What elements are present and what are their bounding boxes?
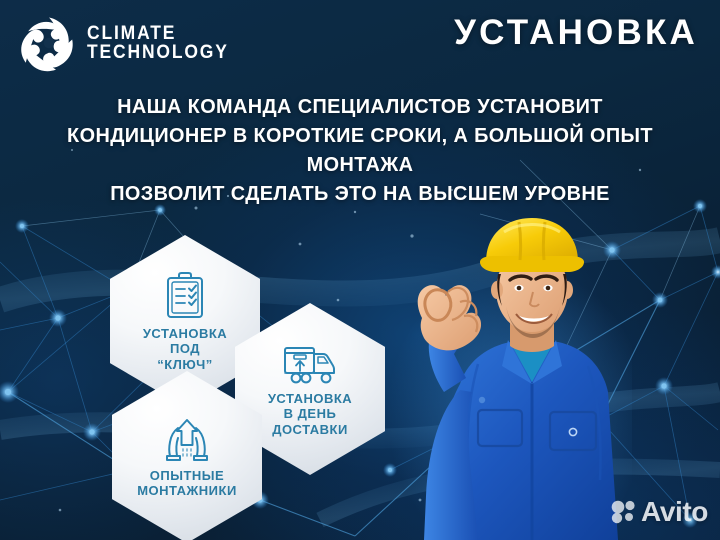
avito-watermark: Avito: [610, 496, 708, 528]
worker-photo: [382, 214, 632, 540]
brand-name-line2: TECHNOLOGY: [87, 43, 229, 62]
headline-line-1: НАША КОМАНДА СПЕЦИАЛИСТОВ УСТАНОВИТ: [11, 92, 709, 121]
clipboard-checklist-icon: [159, 270, 211, 322]
poster-canvas: CLIMATE TECHNOLOGY УСТАНОВКА НАША КОМАНД…: [0, 0, 720, 540]
feature-caption: УСТАНОВКА ПОД “КЛЮЧ”: [143, 326, 227, 373]
hard-hat-icon: [480, 218, 584, 272]
headline-line-3: ПОЗВОЛИТ СДЕЛАТЬ ЭТО НА ВЫСШЕМ УРОВНЕ: [11, 179, 709, 208]
page-title: УСТАНОВКА: [454, 13, 698, 53]
brand-name-line1: CLIMATE: [87, 24, 229, 43]
avito-dots-icon: [610, 500, 636, 524]
headline-line-2: КОНДИЦИОНЕР В КОРОТКИЕ СРОКИ, А БОЛЬШОЙ …: [11, 121, 709, 179]
avito-wordmark: Avito: [641, 496, 708, 528]
feature-caption: УСТАНОВКА В ДЕНЬ ДОСТАВКИ: [268, 391, 352, 438]
delivery-truck-icon: [282, 341, 338, 387]
swirl-fan-logo-icon: [20, 14, 78, 72]
brand-logo: CLIMATE TECHNOLOGY: [20, 14, 241, 72]
headline-block: НАША КОМАНДА СПЕЦИАЛИСТОВ УСТАНОВИТ КОНД…: [0, 92, 720, 208]
hands-holding-arrow-icon: [161, 416, 213, 464]
feature-caption: ОПЫТНЫЕ МОНТАЖНИКИ: [137, 468, 237, 499]
